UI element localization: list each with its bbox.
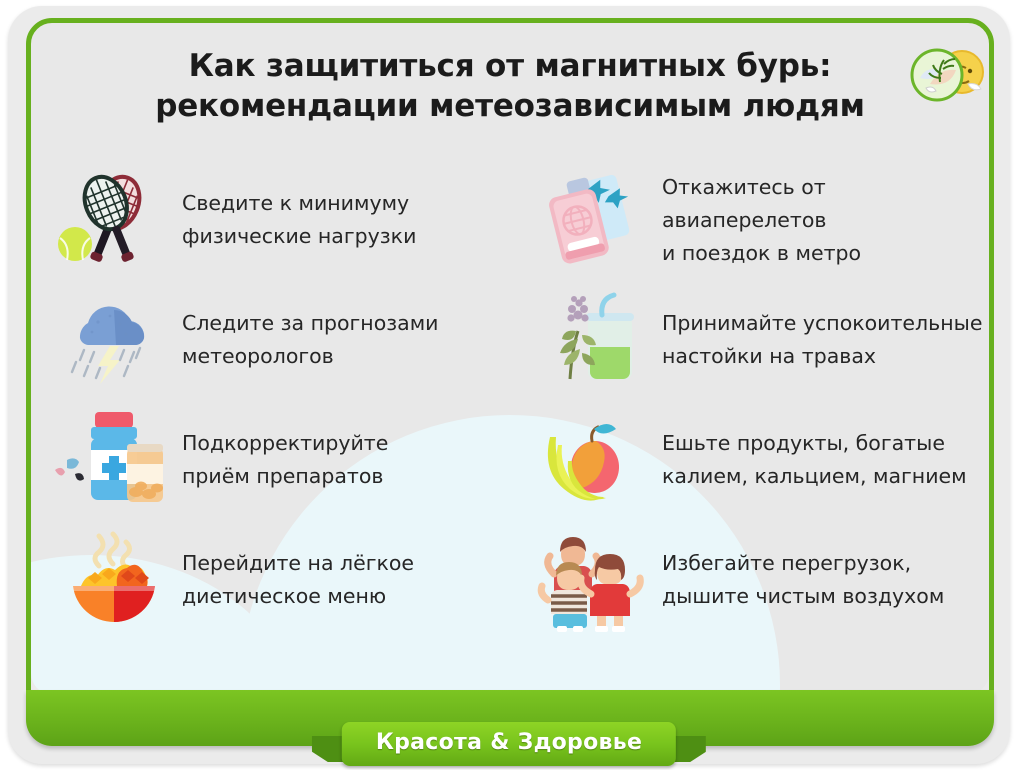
- list-item: Перейдите на лёгкое диетическое меню: [46, 520, 516, 640]
- list-item: Избегайте перегрузок, дышите чистым возд…: [526, 520, 996, 640]
- list-item-label: Откажитесь от авиаперелетов и поездок в …: [662, 171, 996, 270]
- list-item: Следите за прогнозами метеорологов: [46, 280, 516, 400]
- list-item-label: Избегайте перегрузок, дышите чистым возд…: [662, 547, 944, 613]
- ribbon-body: Красота & Здоровье: [342, 722, 676, 766]
- title-line-2: рекомендации метеозависимым людям: [60, 86, 960, 126]
- footer-badge: Красота & Здоровье: [342, 722, 676, 766]
- recommendations-grid: Сведите к минимуму физические нагрузки: [46, 160, 996, 640]
- list-item: Откажитесь от авиаперелетов и поездок в …: [526, 160, 996, 280]
- food-bowl-icon: [52, 530, 172, 630]
- list-item: Ешьте продукты, богатые калием, кальцием…: [526, 400, 996, 520]
- beauty-health-logo: [910, 44, 984, 106]
- list-item: Принимайте успокоительные настойки на тр…: [526, 280, 996, 400]
- herbal-drink-icon: [532, 290, 652, 390]
- list-item: Подкорректируйте приём препаратов: [46, 400, 516, 520]
- list-item-label: Сведите к минимуму физические нагрузки: [182, 187, 416, 253]
- page-title: Как защититься от магнитных бурь: рекоме…: [60, 46, 960, 126]
- list-item-label: Ешьте продукты, богатые калием, кальцием…: [662, 427, 967, 493]
- medicine-bottles-icon: [52, 410, 172, 510]
- passport-airplane-icon: [532, 170, 652, 270]
- children-playing-icon: [532, 530, 652, 630]
- rain-cloud-icon: [52, 290, 172, 390]
- list-item-label: Перейдите на лёгкое диетическое меню: [182, 547, 414, 613]
- list-item: Сведите к минимуму физические нагрузки: [46, 160, 516, 280]
- infographic-root: Как защититься от магнитных бурь: рекоме…: [0, 0, 1018, 770]
- tennis-rackets-icon: [52, 170, 172, 270]
- title-line-1: Как защититься от магнитных бурь:: [60, 46, 960, 86]
- list-item-label: Следите за прогнозами метеорологов: [182, 307, 439, 373]
- list-item-label: Подкорректируйте приём препаратов: [182, 427, 388, 493]
- badge-label: Красота & Здоровье: [376, 730, 642, 756]
- banana-apple-icon: [532, 410, 652, 510]
- list-item-label: Принимайте успокоительные настойки на тр…: [662, 307, 982, 373]
